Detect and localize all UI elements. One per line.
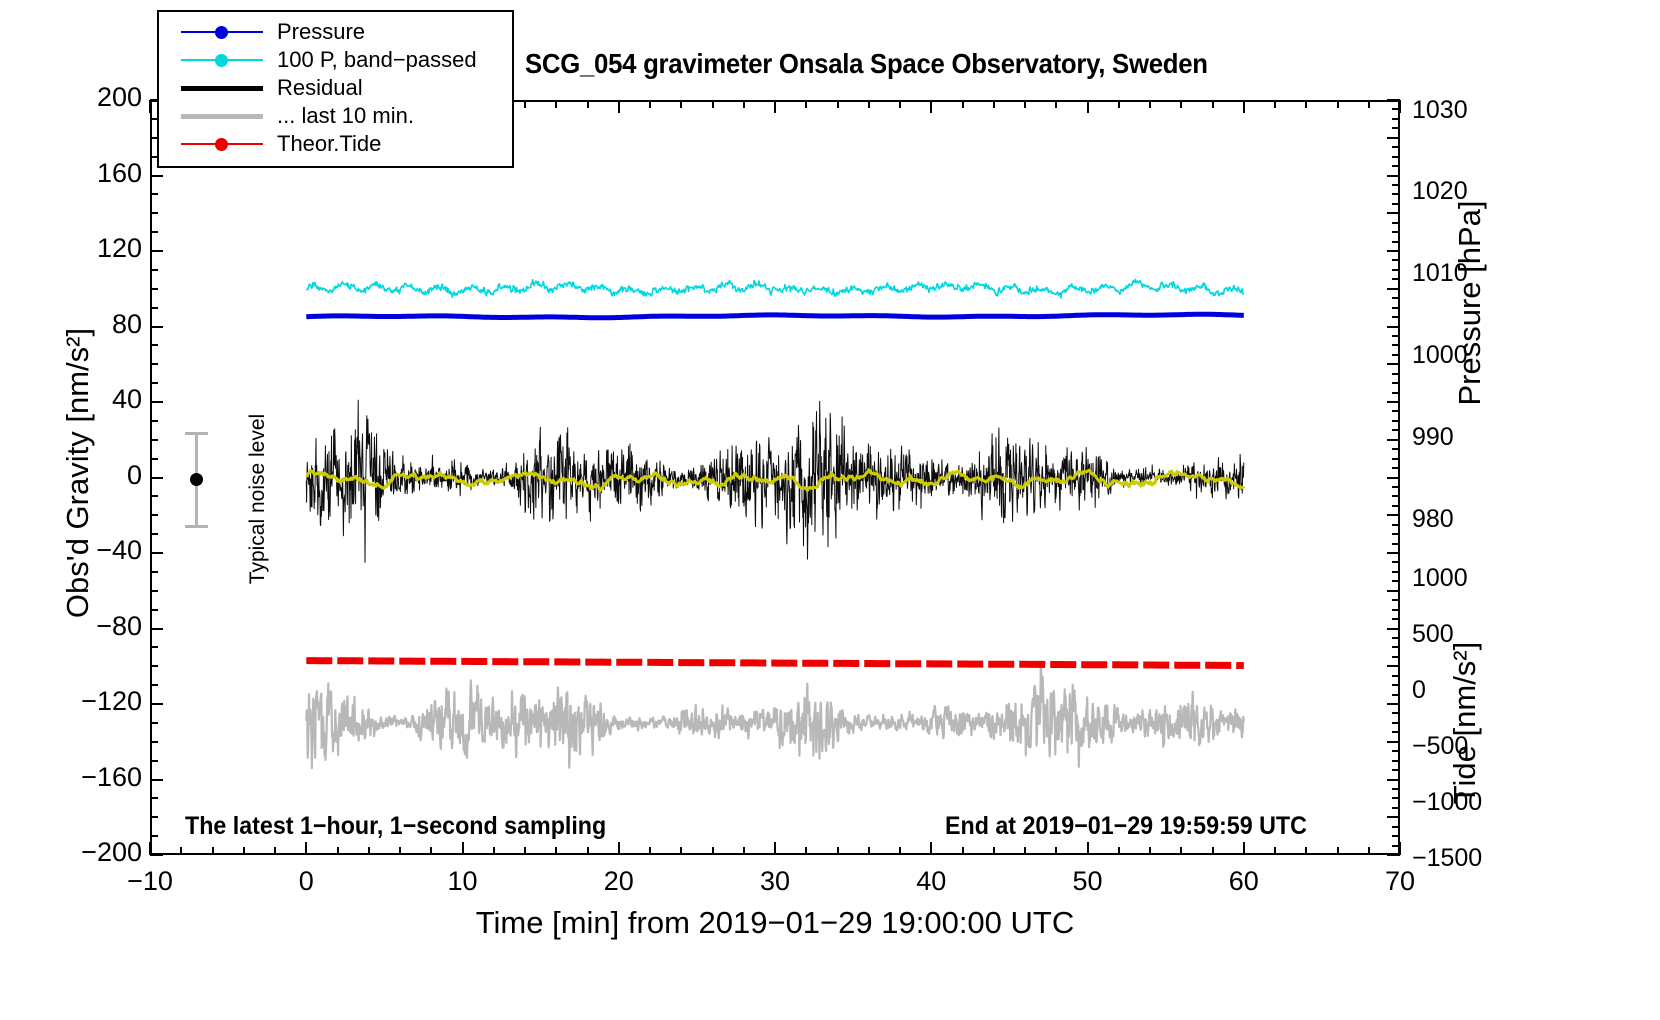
xtick-mark [180,847,182,855]
ytick-mark-right [1392,561,1400,563]
y-axis-left-tick-label: −200 [0,837,142,868]
xtick-mark-top [524,100,526,108]
legend-label: ... last 10 min. [277,104,414,128]
x-axis-tick-label: 30 [715,866,835,897]
ytick-mark-right [1387,590,1400,592]
xtick-mark-top [1243,100,1245,113]
xtick-mark-top [555,100,557,108]
ytick-mark-right [1392,297,1400,299]
ytick-mark-right [1392,392,1400,394]
xtick-mark-top [1399,100,1401,113]
xtick-mark-top [587,100,589,108]
x-axis-tick-label: 40 [871,866,991,897]
legend-swatch-icon [181,137,263,151]
ytick-mark-left [150,458,158,460]
ytick-mark-left [150,326,163,328]
xtick-mark-top [930,100,932,113]
ytick-mark-right [1392,524,1400,526]
xtick-mark-top [1337,100,1339,108]
ytick-mark-right [1387,854,1400,856]
ytick-mark-left [150,382,158,384]
y-axis-pressure-title: Pressure [hPa] [1452,88,1488,518]
ytick-mark-right [1387,137,1400,139]
xtick-mark [649,847,651,855]
xtick-mark-top [1055,100,1057,108]
xtick-mark [305,842,307,855]
ytick-mark-right [1392,599,1400,601]
ytick-mark-right [1387,439,1400,441]
xtick-mark [493,847,495,855]
ytick-mark-left [150,835,158,837]
ytick-mark-right [1392,845,1400,847]
series-last-10-min [306,664,1244,768]
ytick-mark-left [150,477,163,479]
xtick-mark [524,847,526,855]
ytick-mark-left [150,797,158,799]
xtick-mark [1149,847,1151,855]
xtick-mark [618,842,620,855]
ytick-mark-left [150,363,158,365]
ytick-mark-left [150,684,158,686]
ytick-mark-right [1392,675,1400,677]
xtick-mark-top [1180,100,1182,108]
xtick-mark [1305,847,1307,855]
xtick-mark-top [899,100,901,108]
ytick-mark-right [1392,203,1400,205]
xtick-mark [743,847,745,855]
ytick-mark-left [150,665,158,667]
ytick-mark-right [1392,316,1400,318]
xtick-mark-top [1118,100,1120,108]
ytick-mark-right [1387,779,1400,781]
ytick-mark-right [1387,816,1400,818]
xtick-mark-top [1212,100,1214,108]
ytick-mark-right [1392,222,1400,224]
ytick-mark-right [1392,684,1400,686]
ytick-mark-left [150,307,158,309]
ytick-mark-right [1387,401,1400,403]
xtick-mark [243,847,245,855]
x-axis-tick-label: 0 [246,866,366,897]
xtick-mark [430,847,432,855]
ytick-mark-right [1392,146,1400,148]
x-axis-tick-label: −10 [90,866,210,897]
x-axis-tick-label: 10 [403,866,523,897]
ytick-mark-right [1392,373,1400,375]
ytick-mark-left [150,288,158,290]
legend-label: 100 P, band−passed [277,48,477,72]
ytick-mark-right [1392,278,1400,280]
xtick-mark-top [1087,100,1089,113]
ytick-mark-right [1387,326,1400,328]
ytick-mark-right [1392,307,1400,309]
xtick-mark [1368,847,1370,855]
xtick-mark [930,842,932,855]
xtick-mark [399,847,401,855]
ytick-mark-left [150,495,158,497]
y-axis-left-title: Obs'd Gravity [nm/s²] [60,163,96,783]
xtick-mark [1212,847,1214,855]
xtick-mark [212,847,214,855]
ytick-mark-right [1387,175,1400,177]
ytick-mark-right [1387,703,1400,705]
xtick-mark [993,847,995,855]
xtick-mark-top [1274,100,1276,108]
ytick-mark-right [1392,571,1400,573]
ytick-mark-right [1392,731,1400,733]
chart-canvas: 20016012080400−40−80−120−160−200 1030102… [0,0,1660,1020]
legend-item-3[interactable]: ... last 10 min. [159,102,512,130]
ytick-mark-left [150,439,158,441]
ytick-mark-right [1392,618,1400,620]
legend-item-1[interactable]: 100 P, band−passed [159,46,512,74]
ytick-mark-right [1392,807,1400,809]
ytick-mark-right [1392,118,1400,120]
xtick-mark-top [618,100,620,113]
xtick-mark-top [868,100,870,108]
xtick-mark [868,847,870,855]
xtick-mark [1337,847,1339,855]
annotation-end-time: End at 2019−01−29 19:59:59 UTC [945,812,1307,841]
ytick-mark-left [150,590,158,592]
data-traces [150,100,1400,855]
ytick-mark-right [1387,363,1400,365]
x-axis-tick-label: 60 [1184,866,1304,897]
xtick-mark-top [774,100,776,113]
ytick-mark-left [150,741,158,743]
series-pressure [306,314,1244,318]
ytick-mark-right [1387,552,1400,554]
legend-label: Residual [277,76,363,100]
xtick-mark [368,847,370,855]
ytick-mark-right [1392,722,1400,724]
ytick-mark-right [1392,769,1400,771]
x-axis-tick-label: 50 [1028,866,1148,897]
ytick-mark-right [1392,259,1400,261]
ytick-mark-right [1392,495,1400,497]
xtick-mark-top [1149,100,1151,108]
ytick-mark-right [1387,628,1400,630]
xtick-mark-top [1024,100,1026,108]
xtick-mark [1087,842,1089,855]
ytick-mark-right [1392,637,1400,639]
xtick-mark-top [743,100,745,108]
ytick-mark-right [1387,99,1400,101]
xtick-mark [1243,842,1245,855]
ytick-mark-right [1392,448,1400,450]
chart-title: SCG_054 gravimeter Onsala Space Observat… [525,48,1353,80]
legend-label: Theor.Tide [277,132,381,156]
typical-noise-errorbar [185,432,207,528]
ytick-mark-right [1392,382,1400,384]
ytick-mark-right [1392,486,1400,488]
ytick-mark-left [150,193,158,195]
ytick-mark-left [150,552,163,554]
ytick-mark-left [150,722,158,724]
xtick-mark-top [1368,100,1370,108]
legend-swatch-icon [181,53,263,67]
xtick-mark [1024,847,1026,855]
ytick-mark-right [1392,184,1400,186]
xtick-mark [774,842,776,855]
ytick-mark-right [1392,467,1400,469]
xtick-mark-top [649,100,651,108]
ytick-mark-right [1392,354,1400,356]
ytick-mark-right [1392,269,1400,271]
xtick-mark-top [712,100,714,108]
ytick-mark-right [1392,580,1400,582]
xtick-mark [962,847,964,855]
ytick-mark-right [1392,760,1400,762]
ytick-mark-left [150,628,163,630]
legend-swatch-icon [181,25,263,39]
xtick-mark-top [680,100,682,108]
ytick-mark-right [1387,665,1400,667]
ytick-mark-right [1392,156,1400,158]
ytick-mark-left [150,514,158,516]
ytick-mark-left [150,420,158,422]
ytick-mark-right [1392,335,1400,337]
ytick-mark-left [150,269,158,271]
ytick-mark-right [1392,656,1400,658]
ytick-mark-left [150,231,158,233]
ytick-mark-left [150,646,158,648]
ytick-mark-right [1392,193,1400,195]
xtick-mark [587,847,589,855]
ytick-mark-left [150,760,158,762]
xtick-mark [462,842,464,855]
x-axis-title: Time [min] from 2019−01−29 19:00:00 UTC [150,905,1400,941]
legend-label: Pressure [277,20,365,44]
series-bandpassed [306,280,1244,298]
legend-item-4[interactable]: Theor.Tide [159,130,512,158]
xtick-mark [337,847,339,855]
ytick-mark-left [150,344,158,346]
legend-swatch-icon [181,109,263,123]
ytick-mark-right [1392,165,1400,167]
ytick-mark-right [1387,477,1400,479]
xtick-mark [1180,847,1182,855]
ytick-mark-right [1392,533,1400,535]
ytick-mark-right [1387,250,1400,252]
xtick-mark-top [805,100,807,108]
ytick-mark-left [150,816,158,818]
ytick-mark-right [1392,750,1400,752]
ytick-mark-right [1392,646,1400,648]
xtick-mark [805,847,807,855]
ytick-mark-right [1392,429,1400,431]
ytick-mark-right [1387,212,1400,214]
ytick-mark-right [1392,505,1400,507]
ytick-mark-left [150,779,163,781]
legend-item-0[interactable]: Pressure [159,18,512,46]
ytick-mark-right [1392,543,1400,545]
ytick-mark-left [150,571,158,573]
ytick-mark-left [150,401,163,403]
ytick-mark-right [1387,514,1400,516]
xtick-mark-top [962,100,964,108]
ytick-mark-left [150,609,158,611]
ytick-mark-right [1392,694,1400,696]
ytick-mark-right [1392,797,1400,799]
xtick-mark [274,847,276,855]
ytick-mark-right [1392,458,1400,460]
legend-swatch-icon [181,81,263,95]
ytick-mark-right [1387,741,1400,743]
legend[interactable]: Pressure100 P, band−passedResidual... la… [157,10,514,168]
ytick-mark-left [150,854,163,856]
ytick-mark-right [1392,826,1400,828]
xtick-mark [555,847,557,855]
ytick-mark-right [1392,712,1400,714]
annotation-typical-noise-level: Typical noise level [246,399,270,599]
ytick-mark-right [1392,241,1400,243]
xtick-mark [899,847,901,855]
y-axis-tide-title: Tide [nm/s²] [1447,523,1483,923]
ytick-mark-right [1392,127,1400,129]
annotation-sampling-note: The latest 1−hour, 1−second sampling [185,812,606,841]
xtick-mark [1055,847,1057,855]
xtick-mark-top [837,100,839,108]
x-axis-tick-label: 70 [1340,866,1460,897]
ytick-mark-left [150,703,163,705]
ytick-mark-right [1387,288,1400,290]
ytick-mark-left [150,175,163,177]
ytick-mark-right [1392,788,1400,790]
ytick-mark-right [1392,108,1400,110]
series-theor-tide [306,661,1244,666]
xtick-mark [837,847,839,855]
y-axis-left-tick-label: 200 [0,82,142,113]
xtick-mark-top [993,100,995,108]
xtick-mark [680,847,682,855]
xtick-mark [1274,847,1276,855]
ytick-mark-right [1392,420,1400,422]
xtick-mark-top [149,100,151,113]
xtick-mark [712,847,714,855]
ytick-mark-right [1392,344,1400,346]
ytick-mark-left [150,212,158,214]
ytick-mark-right [1392,410,1400,412]
xtick-mark-top [1305,100,1307,108]
ytick-mark-right [1392,609,1400,611]
ytick-mark-left [150,250,163,252]
legend-item-2[interactable]: Residual [159,74,512,102]
ytick-mark-right [1392,231,1400,233]
ytick-mark-right [1392,835,1400,837]
xtick-mark [1118,847,1120,855]
x-axis-tick-label: 20 [559,866,679,897]
ytick-mark-left [150,533,158,535]
